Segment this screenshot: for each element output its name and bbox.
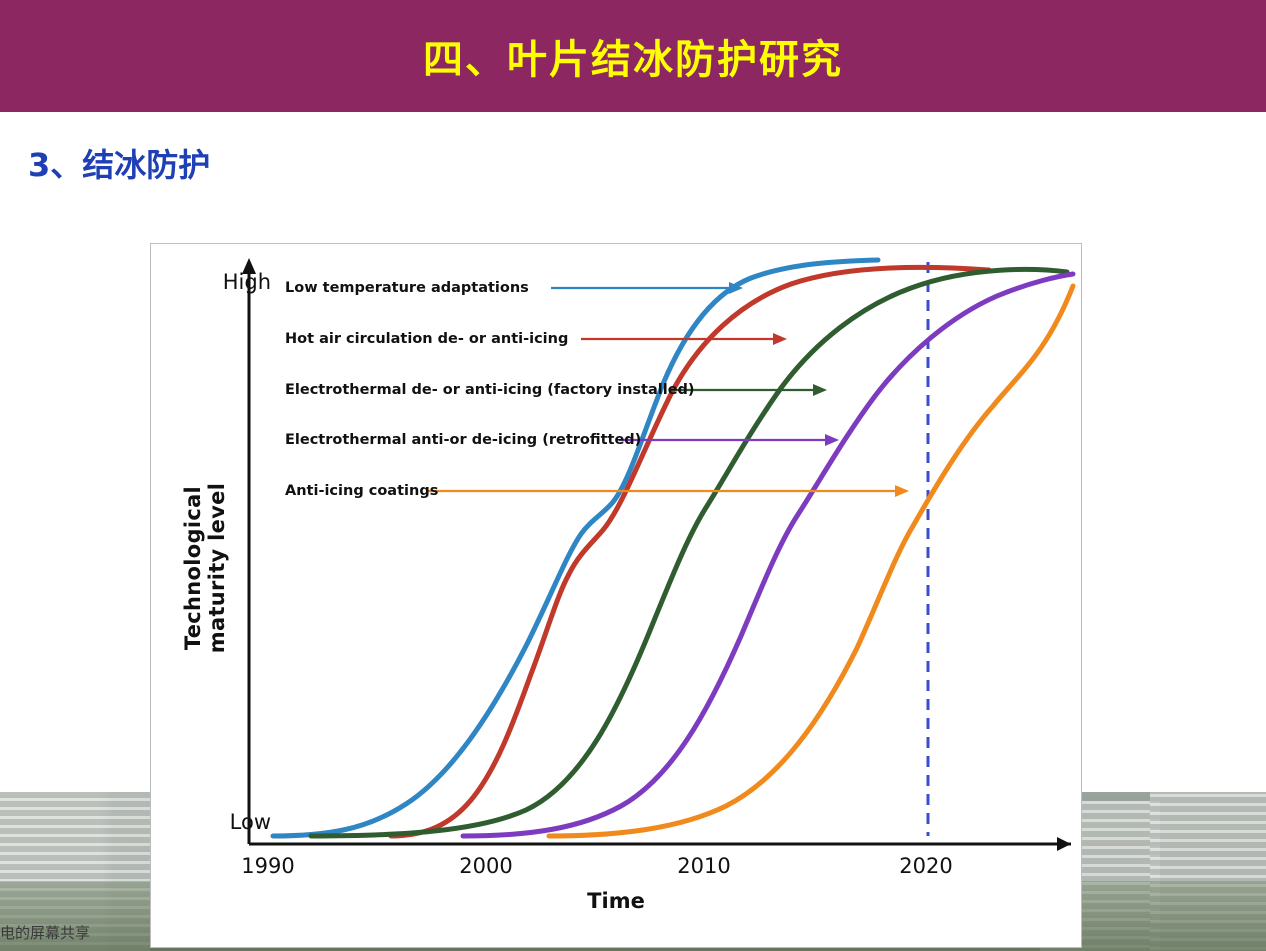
- legend-label-electrothermal-factory-installed: Electrothermal de- or anti-icing (factor…: [285, 382, 695, 398]
- x-tick-1990: 1990: [223, 854, 313, 878]
- page-title: 四、叶片结冰防护研究: [423, 27, 843, 85]
- chart-figure: High Low Technological maturity level 19…: [150, 243, 1082, 948]
- legend-arrow-low-temperature-adaptations: [551, 282, 743, 294]
- technology-maturity-s-curve-chart: [151, 244, 1081, 947]
- section-subtitle: 3、结冰防护: [28, 140, 210, 186]
- y-axis-label: Technological maturity level: [181, 438, 229, 698]
- legend-label-hot-air-circulation: Hot air circulation de- or anti-icing: [285, 331, 568, 347]
- slide: 四、叶片结冰防护研究 3、结冰防护: [0, 0, 1266, 951]
- y-tick-high: High: [161, 270, 271, 294]
- slide-title-bar: 四、叶片结冰防护研究: [0, 0, 1266, 112]
- legend-arrow-anti-icing-coatings: [428, 485, 909, 497]
- legend-label-anti-icing-coatings: Anti-icing coatings: [285, 483, 438, 499]
- x-tick-2020: 2020: [881, 854, 971, 878]
- legend-label-low-temperature-adaptations: Low temperature adaptations: [285, 280, 529, 296]
- series-curve-anti-icing-coatings: [549, 286, 1073, 836]
- x-tick-2010: 2010: [659, 854, 749, 878]
- x-axis-label: Time: [151, 889, 1081, 913]
- series-curve-electrothermal-retrofitted: [463, 274, 1073, 836]
- series-curve-electrothermal-factory-installed: [311, 269, 1067, 836]
- legend-label-electrothermal-retrofitted: Electrothermal anti-or de-icing (retrofi…: [285, 432, 641, 448]
- y-tick-low: Low: [161, 810, 271, 834]
- x-tick-2000: 2000: [441, 854, 531, 878]
- screen-share-watermark: 电的屏幕共享: [0, 922, 90, 943]
